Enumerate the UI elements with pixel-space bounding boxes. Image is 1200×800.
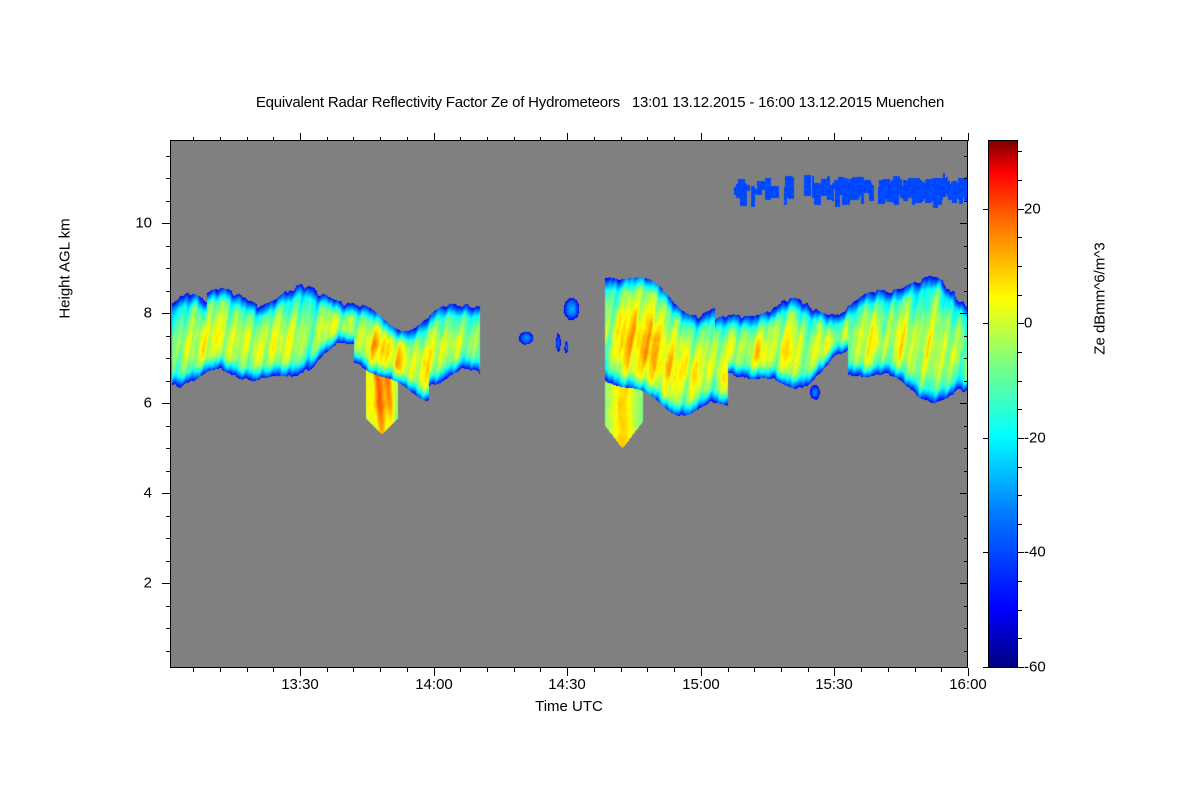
colorbar-tick-minor: [1018, 467, 1022, 468]
x-tick-minor-top: [754, 137, 755, 141]
x-tick-minor: [621, 668, 622, 672]
y-tick-minor-right: [964, 336, 968, 337]
y-tick-minor-right: [964, 178, 968, 179]
x-tick-minor-top: [728, 137, 729, 141]
x-tick-minor: [247, 668, 248, 672]
x-tick-minor-top: [273, 137, 274, 141]
y-tick-minor: [166, 268, 170, 269]
x-tick-major-14:00: [434, 668, 435, 676]
colorbar-tick-left--60: [983, 667, 989, 668]
x-tick-minor: [487, 668, 488, 672]
y-tick-major-2: [162, 583, 170, 584]
y-tick-major-6: [162, 403, 170, 404]
chart-title: Equivalent Radar Reflectivity Factor Ze …: [0, 94, 1200, 111]
y-tick-label-8: 8: [112, 305, 152, 322]
x-tick-major-top-14:00: [434, 133, 435, 141]
y-tick-minor-right: [964, 471, 968, 472]
x-tick-minor: [460, 668, 461, 672]
y-tick-minor: [166, 381, 170, 382]
x-tick-minor-top: [647, 137, 648, 141]
x-tick-major-top-16:00: [968, 133, 969, 141]
x-tick-major-14:30: [567, 668, 568, 676]
x-tick-major-top-15:00: [701, 133, 702, 141]
y-tick-label-10: 10: [112, 215, 152, 232]
colorbar-tick-label--20: -20: [1024, 430, 1046, 447]
y-tick-major-right-4: [960, 493, 968, 494]
y-tick-minor: [166, 628, 170, 629]
colorbar-tick-left--40: [983, 552, 989, 553]
colorbar-tick-minor: [1018, 151, 1022, 152]
y-tick-minor: [166, 448, 170, 449]
y-tick-minor-right: [964, 448, 968, 449]
x-tick-minor-top: [594, 137, 595, 141]
x-tick-minor-top: [487, 137, 488, 141]
y-tick-minor: [166, 178, 170, 179]
x-tick-minor-top: [674, 137, 675, 141]
y-tick-minor: [166, 201, 170, 202]
x-tick-minor-top: [781, 137, 782, 141]
colorbar-tick-label--60: -60: [1024, 659, 1046, 676]
colorbar-tick-left--20: [983, 438, 989, 439]
y-tick-label-6: 6: [112, 395, 152, 412]
colorbar-tick-minor: [1018, 610, 1022, 611]
x-tick-minor-top: [407, 137, 408, 141]
x-tick-major-top-13:30: [300, 133, 301, 141]
y-tick-minor: [166, 156, 170, 157]
y-tick-minor: [166, 651, 170, 652]
x-tick-minor: [728, 668, 729, 672]
colorbar-tick-label-0: 0: [1024, 315, 1032, 332]
y-tick-minor: [166, 606, 170, 607]
x-tick-major-16:00: [968, 668, 969, 676]
x-tick-minor-top: [353, 137, 354, 141]
y-tick-major-right-8: [960, 313, 968, 314]
x-tick-major-15:30: [834, 668, 835, 676]
x-tick-minor-top: [861, 137, 862, 141]
x-tick-minor: [380, 668, 381, 672]
x-tick-minor-top: [380, 137, 381, 141]
x-tick-minor: [407, 668, 408, 672]
colorbar-tick-minor: [1018, 381, 1022, 382]
y-tick-minor-right: [964, 358, 968, 359]
colorbar-tick-label-20: 20: [1024, 201, 1041, 218]
x-tick-label-15:00: 15:00: [656, 676, 746, 693]
colorbar-tick-left-20: [983, 209, 989, 210]
x-tick-minor: [273, 668, 274, 672]
x-tick-label-13:30: 13:30: [255, 676, 345, 693]
y-tick-minor: [166, 291, 170, 292]
y-tick-minor-right: [964, 426, 968, 427]
y-tick-minor-right: [964, 538, 968, 539]
x-tick-minor: [327, 668, 328, 672]
x-tick-major-top-15:30: [834, 133, 835, 141]
y-tick-minor-right: [964, 201, 968, 202]
colorbar-tick-minor: [1018, 237, 1022, 238]
colorbar: [988, 140, 1018, 668]
y-tick-major-right-10: [960, 223, 968, 224]
x-tick-major-15:00: [701, 668, 702, 676]
x-tick-minor: [540, 668, 541, 672]
x-tick-label-15:30: 15:30: [789, 676, 879, 693]
y-tick-minor-right: [964, 628, 968, 629]
y-tick-label-4: 4: [112, 485, 152, 502]
radar-reflectivity-heatmap: [171, 141, 967, 667]
y-tick-major-8: [162, 313, 170, 314]
x-tick-minor: [647, 668, 648, 672]
y-tick-minor-right: [964, 156, 968, 157]
x-tick-minor-top: [915, 137, 916, 141]
y-tick-minor-right: [964, 291, 968, 292]
y-tick-minor-right: [964, 516, 968, 517]
x-tick-label-14:30: 14:30: [522, 676, 612, 693]
colorbar-tick-minor: [1018, 495, 1022, 496]
x-tick-minor-top: [220, 137, 221, 141]
x-tick-minor-top: [247, 137, 248, 141]
x-tick-minor-top: [540, 137, 541, 141]
x-tick-minor: [861, 668, 862, 672]
x-tick-minor: [594, 668, 595, 672]
x-tick-major-13:30: [300, 668, 301, 676]
y-tick-minor: [166, 538, 170, 539]
x-tick-minor-top: [621, 137, 622, 141]
figure-root: Equivalent Radar Reflectivity Factor Ze …: [0, 0, 1200, 800]
y-tick-minor-right: [964, 246, 968, 247]
x-tick-minor: [674, 668, 675, 672]
colorbar-tick-minor: [1018, 409, 1022, 410]
colorbar-tick-label--40: -40: [1024, 544, 1046, 561]
plot-area: [170, 140, 968, 668]
x-tick-minor: [915, 668, 916, 672]
x-tick-minor: [888, 668, 889, 672]
x-tick-minor-top: [941, 137, 942, 141]
y-tick-minor: [166, 561, 170, 562]
x-axis-title: Time UTC: [170, 698, 968, 715]
y-tick-minor-right: [964, 381, 968, 382]
y-axis-title: Height AGL km: [57, 144, 74, 394]
colorbar-tick-left-0: [983, 323, 989, 324]
y-tick-major-10: [162, 223, 170, 224]
x-tick-minor-top: [808, 137, 809, 141]
x-tick-minor: [941, 668, 942, 672]
colorbar-tick-minor: [1018, 266, 1022, 267]
x-tick-minor-top: [327, 137, 328, 141]
x-tick-minor: [193, 668, 194, 672]
y-tick-minor: [166, 516, 170, 517]
x-tick-minor: [353, 668, 354, 672]
y-tick-minor: [166, 471, 170, 472]
y-tick-major-right-6: [960, 403, 968, 404]
x-tick-minor: [220, 668, 221, 672]
colorbar-tick-minor: [1018, 352, 1022, 353]
colorbar-tick-minor: [1018, 638, 1022, 639]
x-tick-minor: [808, 668, 809, 672]
y-tick-minor: [166, 358, 170, 359]
y-tick-minor: [166, 336, 170, 337]
x-tick-label-16:00: 16:00: [923, 676, 1013, 693]
x-tick-minor: [781, 668, 782, 672]
colorbar-tick-minor: [1018, 581, 1022, 582]
colorbar-tick-minor: [1018, 524, 1022, 525]
colorbar-tick-minor: [1018, 295, 1022, 296]
colorbar-title: Ze dBmm^6/m^3: [1092, 174, 1109, 424]
x-tick-major-top-14:30: [567, 133, 568, 141]
y-tick-major-4: [162, 493, 170, 494]
y-tick-minor-right: [964, 651, 968, 652]
x-tick-minor: [754, 668, 755, 672]
x-tick-minor-top: [514, 137, 515, 141]
colorbar-tick-minor: [1018, 180, 1022, 181]
x-tick-minor-top: [193, 137, 194, 141]
y-tick-minor-right: [964, 606, 968, 607]
x-tick-minor-top: [888, 137, 889, 141]
y-tick-minor: [166, 426, 170, 427]
y-tick-minor-right: [964, 268, 968, 269]
x-tick-label-14:00: 14:00: [389, 676, 479, 693]
y-tick-minor-right: [964, 561, 968, 562]
y-tick-minor: [166, 246, 170, 247]
x-tick-minor-top: [460, 137, 461, 141]
x-tick-minor: [514, 668, 515, 672]
y-tick-major-right-2: [960, 583, 968, 584]
y-tick-label-2: 2: [112, 575, 152, 592]
